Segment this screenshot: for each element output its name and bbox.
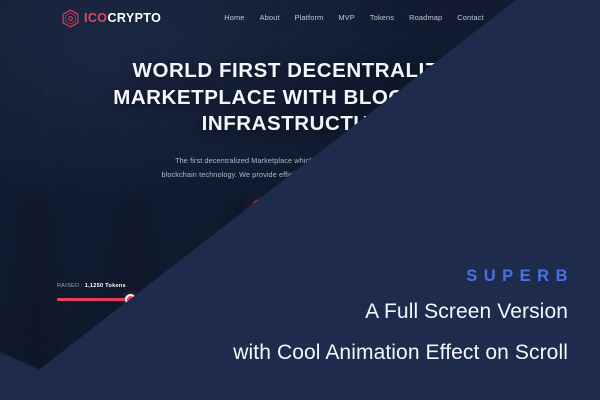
- raise-progress-track[interactable]: SOFT CAP: [57, 298, 213, 301]
- raise-progress-fill: [57, 298, 130, 301]
- brand-text-ico: ICO: [84, 11, 107, 25]
- soft-cap-tick: [130, 302, 131, 315]
- nav-item-home[interactable]: Home: [224, 14, 244, 21]
- promo-caption: SUPERB A Full Screen Version with Cool A…: [233, 268, 568, 368]
- ghost-footer-item: ROADMAP: [220, 382, 247, 388]
- nav-item-more[interactable]: More: [499, 14, 523, 21]
- ghost-footer-item: CONTACT US: [291, 382, 326, 388]
- ghost-footer-item: TOKEN SALE: [142, 382, 176, 388]
- browser-window-wireframe: [448, 142, 572, 226]
- nav-item-mvp[interactable]: MVP: [338, 14, 354, 21]
- promo-headline-line1: A Full Screen Version: [233, 297, 568, 327]
- token-raise-block: RAISED : 1,1250 Tokens SOFT CAP: [57, 284, 213, 301]
- site-header: ICOCRYPTO Home About Platform MVP Tokens…: [0, 0, 600, 36]
- nav-item-more-label: More: [499, 14, 516, 21]
- ghost-footer-row: WHITEPAPER TOKEN SALE ROADMAP CONTACT US: [62, 382, 326, 388]
- raised-label-prefix: RAISED :: [57, 283, 83, 289]
- nav-item-platform[interactable]: Platform: [295, 14, 324, 21]
- ghost-footer-item: WHITEPAPER: [62, 382, 98, 388]
- nav-item-about[interactable]: About: [260, 14, 280, 21]
- hero-subtitle: The first decentralized Marketplace whic…: [158, 154, 442, 182]
- brand-logo[interactable]: ICOCRYPTO: [62, 9, 161, 28]
- brand-wordmark: ICOCRYPTO: [84, 12, 161, 25]
- hexagon-logo-icon: [62, 9, 79, 28]
- nav-item-roadmap[interactable]: Roadmap: [409, 14, 442, 21]
- login-button[interactable]: LOGIN: [558, 9, 600, 26]
- raised-amount: 1,1250 Tokens: [85, 283, 126, 289]
- screenshot-canvas: ICOCRYPTO Home About Platform MVP Tokens…: [0, 0, 600, 400]
- chevron-down-icon: [519, 16, 523, 19]
- main-navigation: Home About Platform MVP Tokens Roadmap C…: [224, 9, 600, 26]
- hero-title: WORLD FIRST DECENTRALIZED MARKETPLACE WI…: [0, 58, 600, 138]
- soft-cap-label: SOFT CAP: [116, 316, 145, 322]
- promo-headline-line2: with Cool Animation Effect on Scroll: [233, 338, 568, 368]
- raised-label: RAISED : 1,1250 Tokens: [57, 284, 213, 290]
- brand-text-crypto: CRYPTO: [107, 11, 161, 25]
- nav-item-contact[interactable]: Contact: [457, 14, 484, 21]
- private-sale-button[interactable]: PRIVATE SALE: [251, 199, 348, 219]
- promo-kicker: SUPERB: [233, 268, 574, 285]
- nav-item-tokens[interactable]: Tokens: [370, 14, 394, 21]
